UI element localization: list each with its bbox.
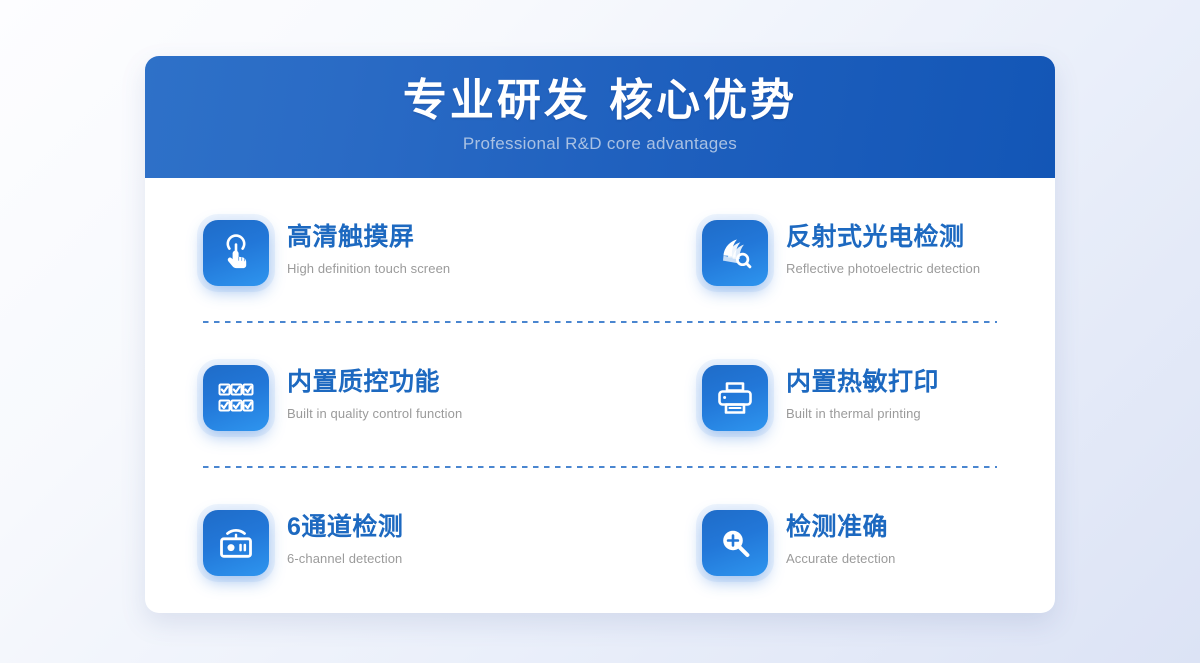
six-channel-device-icon xyxy=(203,510,269,576)
feature-title: 高清触摸屏 xyxy=(287,222,450,252)
feature-desc: 6-channel detection xyxy=(287,551,403,566)
feature-text: 高清触摸屏 High definition touch screen xyxy=(269,220,450,276)
feature-item-six-channel[interactable]: 6通道检测 6-channel detection xyxy=(203,506,600,576)
feature-text: 内置质控功能 Built in quality control function xyxy=(269,365,462,421)
features-grid: 高清触摸屏 High definition touch screen xyxy=(145,178,1055,613)
feature-item-thermal-printing[interactable]: 内置热敏打印 Built in thermal printing xyxy=(600,361,997,431)
quality-control-grid-icon xyxy=(203,365,269,431)
feature-title: 检测准确 xyxy=(786,512,895,542)
feature-title: 反射式光电检测 xyxy=(786,222,980,252)
feature-text: 内置热敏打印 Built in thermal printing xyxy=(768,365,939,421)
feature-item-accurate-detection[interactable]: 检测准确 Accurate detection xyxy=(600,506,997,576)
reflective-photoelectric-icon xyxy=(702,220,768,286)
page-title: 专业研发 核心优势 xyxy=(145,76,1055,125)
feature-title: 内置热敏打印 xyxy=(786,367,939,397)
printer-icon xyxy=(702,365,768,431)
feature-row: 6通道检测 6-channel detection 检测准确 Accurate … xyxy=(203,468,997,613)
feature-text: 反射式光电检测 Reflective photoelectric detecti… xyxy=(768,220,980,276)
advantages-card: 专业研发 核心优势 Professional R&D core advantag… xyxy=(145,56,1055,613)
card-header: 专业研发 核心优势 Professional R&D core advantag… xyxy=(145,56,1055,178)
feature-item-reflective-photoelectric[interactable]: 反射式光电检测 Reflective photoelectric detecti… xyxy=(600,216,997,286)
touch-screen-icon xyxy=(203,220,269,286)
feature-desc: Built in quality control function xyxy=(287,406,462,421)
feature-desc: Reflective photoelectric detection xyxy=(786,261,980,276)
feature-text: 6通道检测 6-channel detection xyxy=(269,510,403,566)
page-subtitle: Professional R&D core advantages xyxy=(145,134,1055,154)
feature-row: 高清触摸屏 High definition touch screen xyxy=(203,178,997,323)
feature-item-quality-control[interactable]: 内置质控功能 Built in quality control function xyxy=(203,361,600,431)
feature-row: 内置质控功能 Built in quality control function… xyxy=(203,323,997,468)
feature-desc: High definition touch screen xyxy=(287,261,450,276)
feature-title: 内置质控功能 xyxy=(287,367,462,397)
feature-desc: Accurate detection xyxy=(786,551,895,566)
magnifier-plus-icon xyxy=(702,510,768,576)
feature-text: 检测准确 Accurate detection xyxy=(768,510,895,566)
feature-item-touch-screen[interactable]: 高清触摸屏 High definition touch screen xyxy=(203,216,600,286)
feature-desc: Built in thermal printing xyxy=(786,406,939,421)
feature-title: 6通道检测 xyxy=(287,512,403,542)
